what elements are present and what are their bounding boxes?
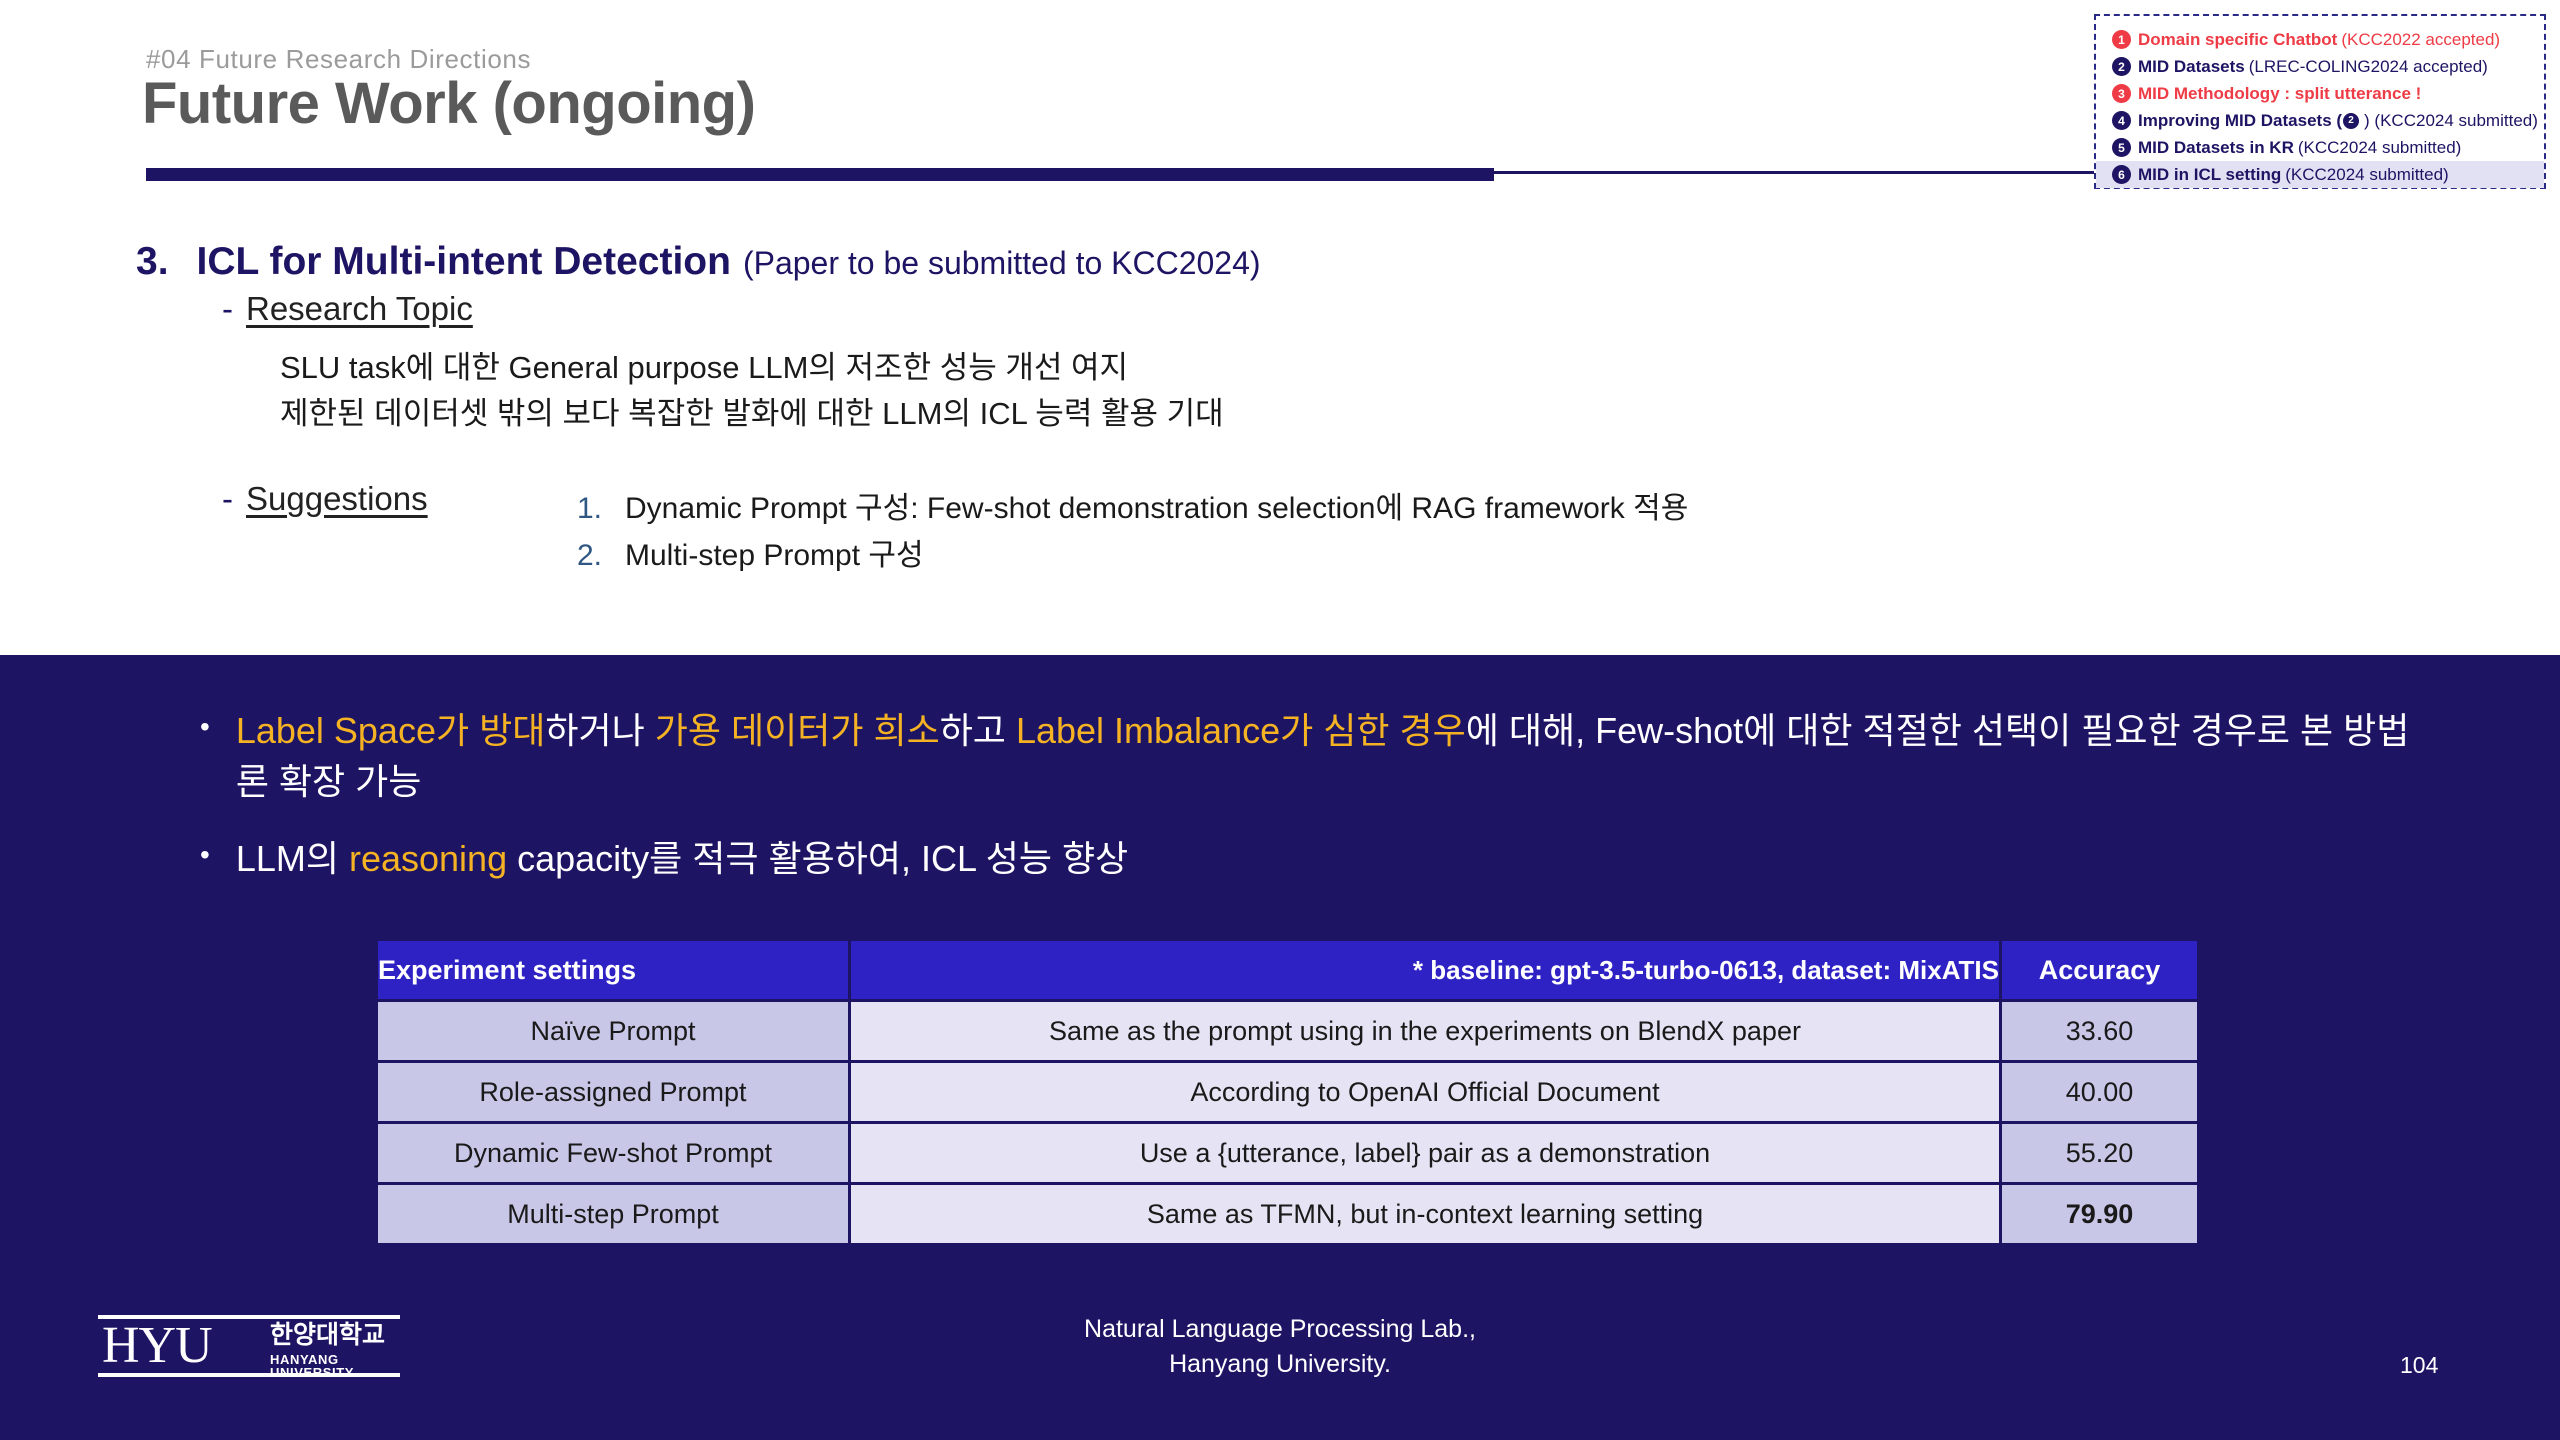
legend-item-5[interactable]: 5 MID Datasets in KR (KCC2024 submitted) (2096, 134, 2544, 161)
legend-note-5: (KCC2024 submitted) (2298, 138, 2461, 158)
slide-body-white: 3.ICL for Multi-intent Detection(Paper t… (0, 180, 2560, 655)
suggestions-label: Suggestions (246, 480, 428, 517)
suggestions-heading: -Suggestions (222, 480, 428, 518)
navy-b1-seg3: 가용 데이터가 희소 (655, 710, 940, 751)
cell-setting-2: Role-assigned Prompt (378, 1063, 848, 1121)
suggestion-text-2: Multi-step Prompt 구성 (625, 530, 924, 574)
footer-lab-credit: Natural Language Processing Lab., Hanyan… (0, 1312, 2560, 1381)
research-topic-line-2: 제한된 데이터셋 밖의 보다 복잡한 발화에 대한 LLM의 ICL 능력 활용… (280, 388, 1224, 433)
navy-bullet-1: • Label Space가 방대하거나 가용 데이터가 희소하고 Label … (200, 705, 2430, 807)
cell-accuracy-2: 40.00 (2002, 1063, 2197, 1121)
section-title: ICL for Multi-intent Detection (197, 240, 731, 283)
legend-badge-3: 3 (2112, 84, 2131, 103)
legend-item-3[interactable]: 3 MID Methodology : split utterance ! (2096, 80, 2544, 107)
cell-accuracy-4-best: 79.90 (2002, 1185, 2197, 1243)
suggestion-item-1: 1. Dynamic Prompt 구성: Few-shot demonstra… (577, 483, 1688, 527)
navy-bullet-1-text: Label Space가 방대하거나 가용 데이터가 희소하고 Label Im… (236, 705, 2430, 807)
cell-desc-1: Same as the prompt using in the experime… (851, 1002, 1999, 1060)
cell-setting-3: Dynamic Few-shot Prompt (378, 1124, 848, 1182)
legend-title-4: Improving MID Datasets ( (2138, 111, 2342, 131)
suggestion-text-1: Dynamic Prompt 구성: Few-shot demonstratio… (625, 483, 1688, 527)
navy-b2-seg1: LLM의 (236, 838, 349, 879)
legend-note-4: ) (KCC2024 submitted) (2364, 111, 2538, 131)
dash-marker-suggestions: - (222, 480, 233, 517)
legend-badge-4: 4 (2112, 111, 2131, 130)
cell-desc-3: Use a {utterance, label} pair as a demon… (851, 1124, 1999, 1182)
legend-note-1: (KCC2022 accepted) (2341, 30, 2500, 50)
cell-desc-4: Same as TFMN, but in-context learning se… (851, 1185, 1999, 1243)
section-heading: 3.ICL for Multi-intent Detection(Paper t… (136, 240, 1261, 284)
legend-inline-badge-2: 2 (2343, 113, 2359, 129)
suggestion-number-2: 2. (577, 539, 625, 573)
table-row[interactable]: Role-assigned Prompt According to OpenAI… (378, 1063, 2197, 1121)
table-row[interactable]: Dynamic Few-shot Prompt Use a {utterance… (378, 1124, 2197, 1182)
cell-accuracy-3: 55.20 (2002, 1124, 2197, 1182)
legend-title-5: MID Datasets in KR (2138, 138, 2294, 158)
table-header: Experiment settings * baseline: gpt-3.5-… (378, 941, 2197, 999)
page-title: Future Work (ongoing) (142, 70, 755, 137)
legend-title-2: MID Datasets (2138, 57, 2245, 77)
legend-badge-5: 5 (2112, 138, 2131, 157)
col-header-baseline-note: * baseline: gpt-3.5-turbo-0613, dataset:… (851, 941, 1999, 999)
section-number: 3. (136, 240, 169, 283)
legend-badge-1: 1 (2112, 30, 2131, 49)
suggestion-item-2: 2. Multi-step Prompt 구성 (577, 530, 924, 574)
legend-badge-2: 2 (2112, 57, 2131, 76)
footer-lab-line-1: Natural Language Processing Lab., (0, 1312, 2560, 1347)
legend-note-2: (LREC-COLING2024 accepted) (2249, 57, 2488, 77)
table-body: Naïve Prompt Same as the prompt using in… (378, 1002, 2197, 1243)
bullet-dot-icon-1: • (200, 705, 210, 807)
header-divider-thin (1494, 171, 2099, 174)
dash-marker-topic: - (222, 290, 233, 327)
research-topic-heading: -Research Topic (222, 290, 473, 328)
bullet-dot-icon-2: • (200, 833, 210, 884)
slide-number: 104 (2400, 1352, 2438, 1379)
section-note: (Paper to be submitted to KCC2024) (743, 245, 1261, 281)
navy-b2-seg3: capacity를 적극 활용하여, ICL 성능 향상 (507, 838, 1128, 879)
navy-b1-seg4: 하고 (940, 710, 1016, 751)
cell-desc-2: According to OpenAI Official Document (851, 1063, 1999, 1121)
cell-accuracy-1: 33.60 (2002, 1002, 2197, 1060)
navy-bullet-2: • LLM의 reasoning capacity를 적극 활용하여, ICL … (200, 833, 2430, 884)
col-header-experiment-settings: Experiment settings (378, 941, 848, 999)
research-topic-label: Research Topic (246, 290, 473, 327)
navy-b1-seg1: Label Space가 방대 (236, 710, 546, 751)
legend-item-2[interactable]: 2 MID Datasets (LREC-COLING2024 accepted… (2096, 53, 2544, 80)
col-header-accuracy: Accuracy (2002, 941, 2197, 999)
navy-b1-seg5: Label Imbalance가 심한 경우 (1016, 710, 1466, 751)
experiment-results-table: Experiment settings * baseline: gpt-3.5-… (375, 938, 2200, 1246)
suggestion-number-1: 1. (577, 492, 625, 526)
table-row[interactable]: Multi-step Prompt Same as TFMN, but in-c… (378, 1185, 2197, 1243)
research-roadmap-legend: 1 Domain specific Chatbot (KCC2022 accep… (2094, 14, 2546, 189)
navy-b2-seg2: reasoning (349, 838, 507, 879)
table-row[interactable]: Naïve Prompt Same as the prompt using in… (378, 1002, 2197, 1060)
cell-setting-1: Naïve Prompt (378, 1002, 848, 1060)
cell-setting-4: Multi-step Prompt (378, 1185, 848, 1243)
legend-title-1: Domain specific Chatbot (2138, 30, 2337, 50)
footer-lab-line-2: Hanyang University. (0, 1347, 2560, 1382)
table-header-row: Experiment settings * baseline: gpt-3.5-… (378, 941, 2197, 999)
legend-title-3: MID Methodology : split utterance ! (2138, 84, 2421, 104)
research-topic-line-1: SLU task에 대한 General purpose LLM의 저조한 성능… (280, 342, 1128, 387)
navy-bullet-2-text: LLM의 reasoning capacity를 적극 활용하여, ICL 성능… (236, 833, 1128, 884)
navy-b1-seg2: 하거나 (545, 710, 654, 751)
legend-item-1[interactable]: 1 Domain specific Chatbot (KCC2022 accep… (2096, 26, 2544, 53)
legend-item-4[interactable]: 4 Improving MID Datasets (2 ) (KCC2024 s… (2096, 107, 2544, 134)
